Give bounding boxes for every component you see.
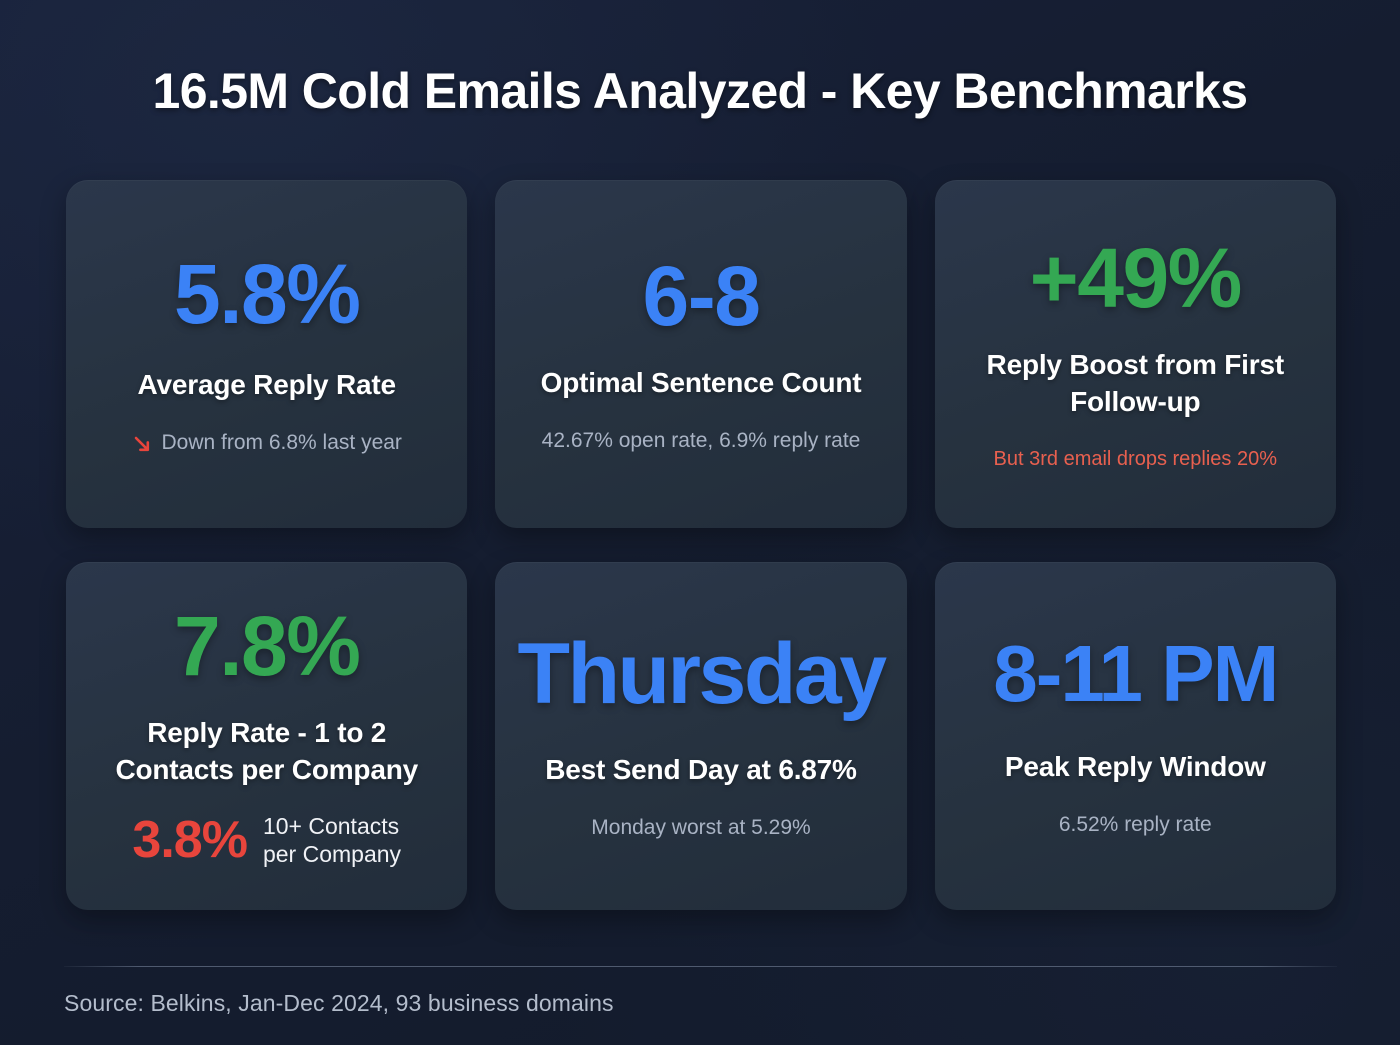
metric-value: 5.8% bbox=[174, 252, 359, 336]
footer-divider bbox=[64, 966, 1337, 967]
arrow-down-right-icon bbox=[132, 434, 152, 454]
metric-value: Thursday bbox=[517, 631, 884, 717]
metric-value: 6-8 bbox=[643, 254, 760, 338]
metric-card-grid: 5.8% Average Reply Rate Down from 6.8% l… bbox=[66, 180, 1336, 910]
metric-note: Down from 6.8% last year bbox=[132, 429, 402, 456]
page-title: 16.5M Cold Emails Analyzed - Key Benchma… bbox=[0, 62, 1400, 120]
metric-note-text: 42.67% open rate, 6.9% reply rate bbox=[542, 427, 861, 454]
metric-label: Average Reply Rate bbox=[138, 366, 396, 403]
metric-note-text: 6.52% reply rate bbox=[1059, 811, 1212, 838]
metric-substat-text: 10+ Contacts per Company bbox=[263, 812, 401, 868]
metric-substat: 3.8% 10+ Contacts per Company bbox=[132, 812, 401, 868]
infographic-root: 16.5M Cold Emails Analyzed - Key Benchma… bbox=[0, 0, 1400, 1045]
metric-note-text: Monday worst at 5.29% bbox=[591, 814, 810, 841]
metric-card-reply-boost-first-followup: +49% Reply Boost from First Follow-up Bu… bbox=[935, 180, 1336, 528]
metric-value: 7.8% bbox=[174, 604, 359, 688]
metric-label: Reply Boost from First Follow-up bbox=[970, 346, 1300, 420]
metric-label: Peak Reply Window bbox=[1005, 748, 1266, 785]
metric-label: Optimal Sentence Count bbox=[541, 364, 862, 401]
metric-label: Reply Rate - 1 to 2 Contacts per Company bbox=[102, 714, 432, 788]
metric-card-reply-rate-contacts-per-company: 7.8% Reply Rate - 1 to 2 Contacts per Co… bbox=[66, 562, 467, 910]
metric-card-peak-reply-window: 8-11 PM Peak Reply Window 6.52% reply ra… bbox=[935, 562, 1336, 910]
metric-value: +49% bbox=[1030, 236, 1241, 320]
source-text: Source: Belkins, Jan-Dec 2024, 93 busine… bbox=[64, 990, 614, 1017]
metric-note: 6.52% reply rate bbox=[1059, 811, 1212, 838]
metric-label: Best Send Day at 6.87% bbox=[545, 751, 857, 788]
metric-note: 42.67% open rate, 6.9% reply rate bbox=[542, 427, 861, 454]
page-title-container: 16.5M Cold Emails Analyzed - Key Benchma… bbox=[0, 62, 1400, 120]
metric-note: Monday worst at 5.29% bbox=[591, 814, 810, 841]
metric-card-best-send-day: Thursday Best Send Day at 6.87% Monday w… bbox=[495, 562, 906, 910]
metric-card-average-reply-rate: 5.8% Average Reply Rate Down from 6.8% l… bbox=[66, 180, 467, 528]
metric-substat-value: 3.8% bbox=[132, 814, 247, 866]
metric-card-optimal-sentence-count: 6-8 Optimal Sentence Count 42.67% open r… bbox=[495, 180, 906, 528]
metric-value: 8-11 PM bbox=[993, 634, 1277, 714]
metric-note: But 3rd email drops replies 20% bbox=[994, 446, 1277, 472]
metric-note-text: Down from 6.8% last year bbox=[162, 429, 402, 456]
metric-note-text: But 3rd email drops replies 20% bbox=[994, 446, 1277, 472]
